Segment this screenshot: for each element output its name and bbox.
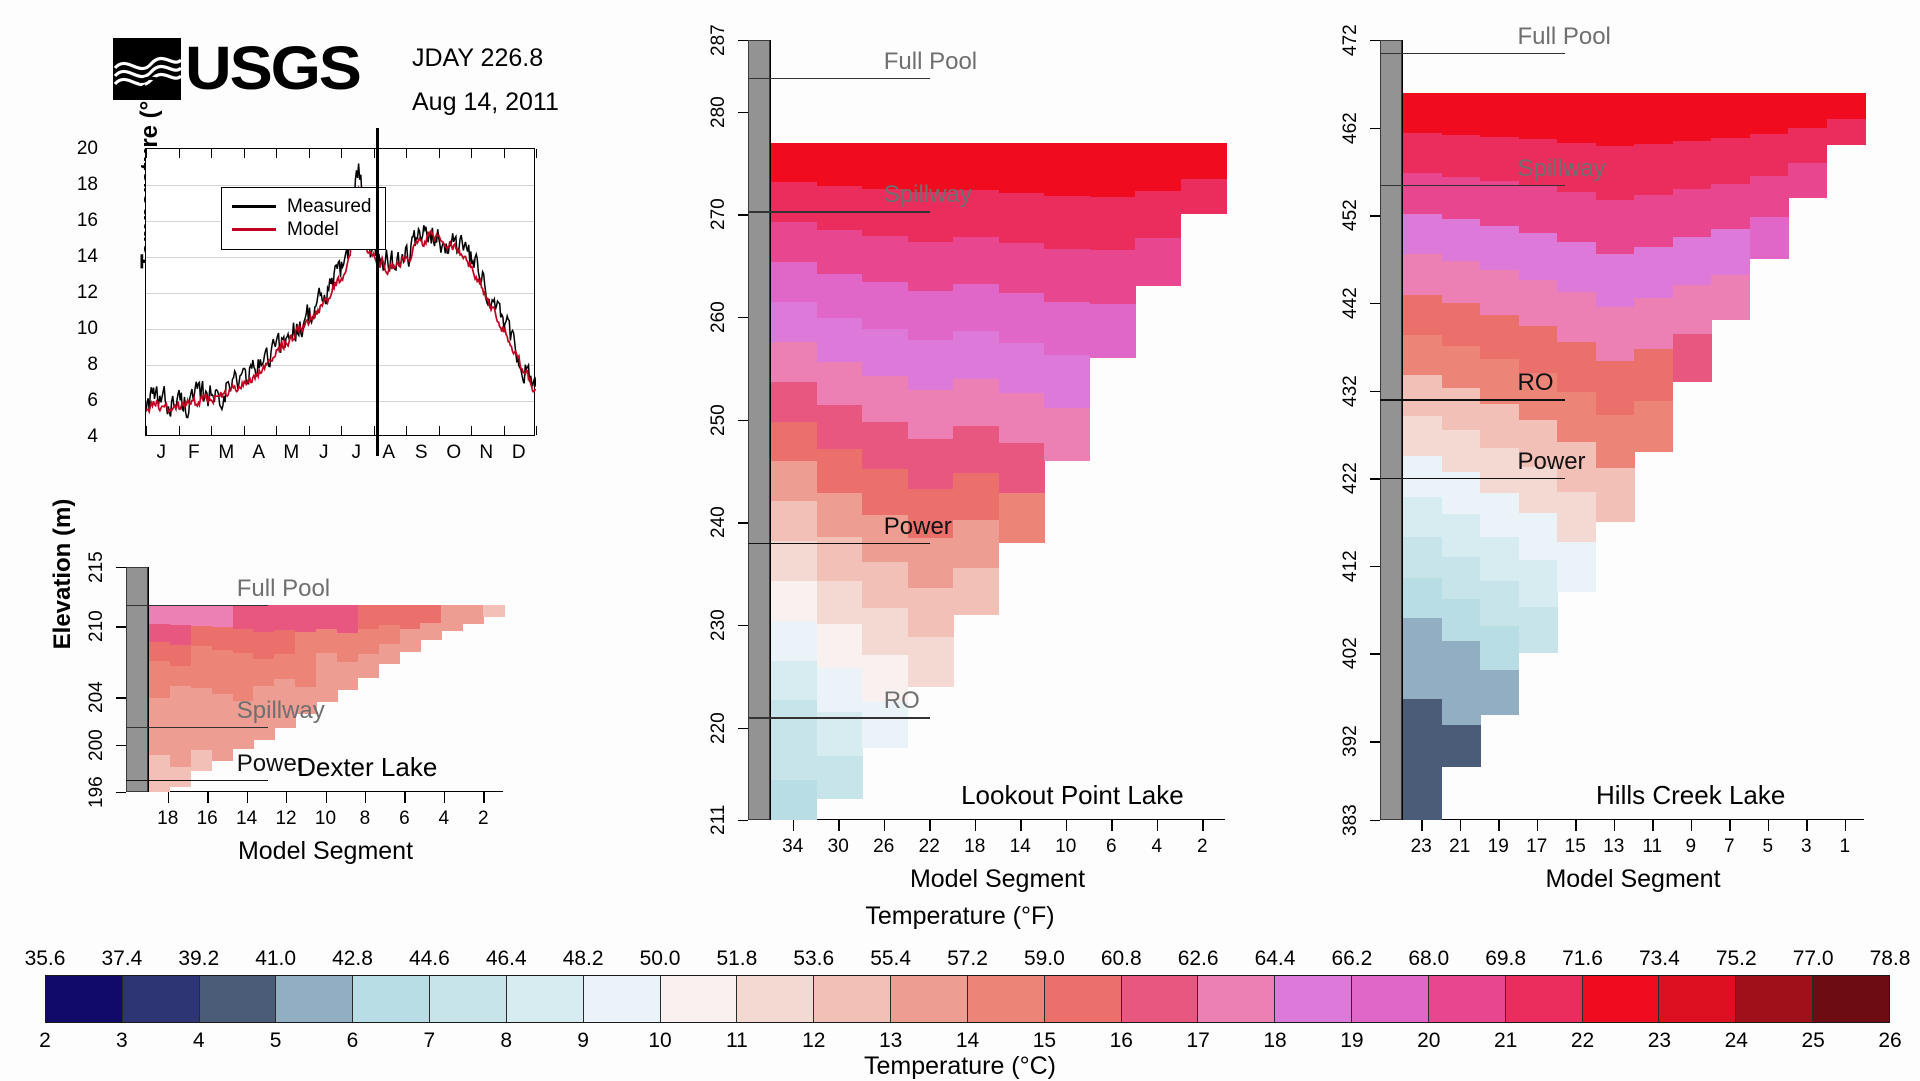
temperature-cell [170, 605, 191, 625]
temperature-cell [953, 379, 999, 426]
temperature-cell [817, 362, 863, 406]
colorbar-label-c: 22 [1561, 1029, 1605, 1053]
temperature-cell [1480, 493, 1519, 537]
colorbar-label-f: 51.8 [702, 947, 772, 971]
temperature-cell [358, 605, 379, 629]
temperature-cell [908, 340, 954, 389]
outlet-line-full-pool [126, 605, 268, 606]
colorbar-label-c: 25 [1791, 1029, 1835, 1053]
temperature-cell [1442, 219, 1481, 261]
reservoir-xtick [793, 820, 794, 831]
timeseries-month-label: N [473, 442, 499, 464]
reservoir-title: Hills Creek Lake [1596, 780, 1785, 811]
colorbar-label-f: 77.0 [1778, 947, 1848, 971]
temperature-cell [1673, 334, 1712, 382]
colorbar-label-f: 41.0 [241, 947, 311, 971]
colorbar-cell [46, 976, 123, 1022]
temperature-cell [170, 625, 191, 645]
colorbar-label-c: 24 [1714, 1029, 1758, 1053]
colorbar-label-f: 73.4 [1624, 947, 1694, 971]
temperature-cell [1480, 137, 1519, 181]
temperature-cell [862, 376, 908, 423]
temperature-cell [274, 630, 295, 655]
jday-value: JDAY 226.8 [412, 36, 559, 80]
reservoir-ytick-label: 220 [708, 698, 730, 758]
reservoir-ytick-label: 204 [86, 667, 108, 727]
temperature-cell [1044, 143, 1090, 196]
temperature-cell [771, 342, 817, 382]
reservoir-ytick [1370, 128, 1380, 129]
reservoir-xtick-label: 15 [1558, 836, 1592, 858]
temperature-cell [420, 623, 441, 641]
colorbar-cell [123, 976, 200, 1022]
temperature-cell [1634, 349, 1673, 400]
temperature-cell [1673, 93, 1712, 141]
temperature-cell [1090, 304, 1136, 358]
timeseries-ytick-label: 14 [58, 246, 98, 268]
temperature-cell [953, 426, 999, 473]
reservoir-xtick-label: 3 [1789, 836, 1823, 858]
colorbar-label-f: 60.8 [1086, 947, 1156, 971]
outlet-label-full-pool: Full Pool [237, 575, 330, 603]
reservoir-xtick [404, 792, 405, 803]
temperature-cell [149, 773, 170, 792]
dam-profile-bar [1380, 40, 1402, 820]
colorbar-cell [891, 976, 968, 1022]
timeseries-month-label: A [246, 442, 272, 464]
temperature-cell [1711, 93, 1750, 139]
temperature-cell [771, 143, 817, 183]
temperature-cell [1044, 355, 1090, 408]
colorbar-gradient [45, 975, 1890, 1023]
temperature-cell [1788, 93, 1827, 128]
temperature-cell [1557, 242, 1596, 292]
temperature-cell [149, 680, 170, 699]
colorbar-cell [1045, 976, 1122, 1022]
temperature-cell [1519, 560, 1558, 607]
temperature-cell [295, 632, 316, 659]
reservoir-ytick-label: 270 [708, 184, 730, 244]
colorbar-label-f: 48.2 [548, 947, 618, 971]
temperature-cell [191, 605, 212, 626]
colorbar-cell [430, 976, 507, 1022]
reservoir-ytick [738, 420, 748, 421]
temperature-cell [233, 725, 254, 749]
temperature-cell [170, 726, 191, 746]
timeseries-month-label: J [343, 442, 369, 464]
colorbar-cell [1275, 976, 1352, 1022]
temperature-cell [771, 541, 817, 581]
reservoir-xtick [1806, 820, 1807, 831]
colorbar-caption-f: Temperature (°F) [0, 902, 1920, 931]
reservoir-xtick [326, 792, 327, 803]
reservoir-xtick-label: 23 [1404, 836, 1438, 858]
reservoir-xtick [975, 820, 976, 831]
colorbar-label-f: 44.6 [394, 947, 464, 971]
colorbar-label-f: 78.8 [1855, 947, 1920, 971]
reservoir-xtick [1768, 820, 1769, 831]
reservoir-xtick-label: 10 [309, 808, 343, 830]
temperature-cell [212, 694, 233, 716]
temperature-cell [1557, 192, 1596, 242]
reservoir-ytick-label: 230 [708, 595, 730, 655]
colorbar-label-f: 46.4 [471, 947, 541, 971]
temperature-cell [379, 605, 400, 625]
reservoir-ytick [1370, 478, 1380, 479]
temperature-cell [1403, 93, 1442, 133]
timeseries-xtick [536, 426, 537, 435]
outlet-label-power: Power [237, 750, 305, 778]
reservoir-xtick [247, 792, 248, 803]
reservoir-xtick-label: 6 [387, 808, 421, 830]
temperature-cell [1634, 144, 1673, 195]
temperature-cell [1403, 739, 1442, 779]
temperature-cell [771, 302, 817, 342]
temperature-cell [1442, 261, 1481, 303]
temperature-cell [817, 230, 863, 274]
temperature-cell [149, 605, 170, 624]
reservoir-xtick-label: 12 [269, 808, 303, 830]
temperature-cell [170, 645, 191, 665]
temperature-cell [1519, 186, 1558, 233]
temperature-cell [1403, 375, 1442, 415]
temperature-cell [191, 688, 212, 709]
temperature-cell [999, 143, 1045, 193]
outlet-line-ro [748, 717, 930, 718]
temperature-cell [1442, 303, 1481, 345]
colorbar-label-c: 16 [1099, 1029, 1143, 1053]
reservoir-ytick [116, 697, 126, 698]
timeseries-ytick-label: 10 [58, 318, 98, 340]
colorbar-cell [814, 976, 891, 1022]
reservoir-ytick [116, 626, 126, 627]
reservoir-xtick [1498, 820, 1499, 831]
reservoir-xaxis-caption: Model Segment [1402, 865, 1864, 894]
legend-swatch [232, 205, 276, 208]
colorbar-cell [737, 976, 814, 1022]
temperature-cell [1557, 292, 1596, 342]
temperature-cell [441, 618, 462, 631]
colorbar-label-f: 64.4 [1240, 947, 1310, 971]
outlet-label-ro: RO [884, 687, 920, 715]
temperature-cell [1480, 537, 1519, 581]
reservoir-xtick [1111, 820, 1112, 831]
reservoir-ytick [738, 317, 748, 318]
colorbar-label-c: 2 [23, 1029, 67, 1053]
reservoir-ytick [116, 567, 126, 568]
outlet-label-power: Power [1518, 448, 1586, 476]
reservoir-ytick-label: 210 [86, 596, 108, 656]
date-value: Aug 14, 2011 [412, 80, 559, 124]
temperature-cell [862, 562, 908, 609]
temperature-cell [999, 193, 1045, 243]
reservoir-xtick [1202, 820, 1203, 831]
temperature-cell [441, 605, 462, 618]
temperature-cell [1403, 618, 1442, 658]
colorbar-cell [1583, 976, 1660, 1022]
colorbar-cell [584, 976, 661, 1022]
colorbar-label-f: 39.2 [164, 947, 234, 971]
temperature-cell [1557, 342, 1596, 392]
temperature-cell [253, 605, 274, 632]
temperature-cell [1519, 93, 1558, 140]
outlet-label-power: Power [884, 513, 952, 541]
reservoir-xtick-label: 1 [1828, 836, 1862, 858]
temperature-cell [999, 243, 1045, 293]
temperature-cell [1403, 497, 1442, 537]
outlet-label-spillway: Spillway [1518, 155, 1606, 183]
temperature-cell [170, 666, 191, 686]
temperature-cell [191, 646, 212, 667]
temperature-cell [400, 605, 421, 629]
temperature-cell [212, 739, 233, 761]
reservoir-ytick-label: 211 [708, 790, 730, 850]
temperature-cell [1403, 133, 1442, 173]
temperature-cell [1442, 514, 1481, 556]
reservoir-ytick [738, 728, 748, 729]
reservoir-xtick-label: 4 [427, 808, 461, 830]
temperature-cell [1480, 181, 1519, 225]
colorbar-label-c: 10 [638, 1029, 682, 1053]
reservoir-xtick-label: 19 [1481, 836, 1515, 858]
elevation-axis-label: Elevation (m) [49, 459, 77, 689]
temperature-cell [1090, 250, 1136, 304]
colorbar-label-f: 35.6 [10, 947, 80, 971]
outlet-line-full-pool [1380, 53, 1565, 54]
timeseries-ytick-label: 8 [58, 354, 98, 376]
colorbar-label-f: 53.6 [779, 947, 849, 971]
reservoir-xtick-label: 18 [958, 836, 992, 858]
timeseries-month-label: M [213, 442, 239, 464]
colorbar-label-c: 18 [1253, 1029, 1297, 1053]
outlet-line-power [748, 543, 930, 544]
reservoir-xtick [838, 820, 839, 831]
temperature-cell [1044, 302, 1090, 355]
reservoir-xtick [168, 792, 169, 803]
temperature-cell [999, 493, 1045, 543]
temperature-cell [1044, 408, 1090, 461]
outlet-label-ro: RO [1518, 369, 1554, 397]
colorbar-label-f: 42.8 [318, 947, 388, 971]
temperature-cell [1442, 430, 1481, 472]
colorbar-cell [968, 976, 1045, 1022]
temperature-cell [1557, 93, 1596, 143]
colorbar-label-f: 66.2 [1317, 947, 1387, 971]
temperature-cell [1403, 254, 1442, 294]
temperature-cell [1519, 233, 1558, 280]
colorbar-label-c: 12 [792, 1029, 836, 1053]
temperature-cell [1480, 270, 1519, 314]
temperature-cell [1181, 179, 1227, 215]
temperature-cell [316, 629, 337, 653]
colorbar-label-f: 59.0 [1009, 947, 1079, 971]
temperature-cell [1090, 197, 1136, 251]
colorbar-label-c: 13 [869, 1029, 913, 1053]
temperature-cell [1557, 492, 1596, 542]
temperature-cell [908, 538, 954, 587]
temperature-cell [1480, 670, 1519, 714]
temperature-cell [149, 698, 170, 717]
reservoir-xtick [1729, 820, 1730, 831]
outlet-line-power [126, 780, 268, 781]
temperature-cell [817, 405, 863, 449]
colorbar-cell [507, 976, 584, 1022]
temperature-cell [295, 605, 316, 632]
temperature-cell [1403, 780, 1442, 820]
reservoir-xtick-label: 22 [912, 836, 946, 858]
temperature-cell [1403, 456, 1442, 496]
timeseries-xtick [536, 149, 537, 158]
outlet-label-spillway: Spillway [884, 181, 972, 209]
temperature-cell [379, 625, 400, 645]
reservoir-xtick [1652, 820, 1653, 831]
reservoir-xtick-label: 17 [1520, 836, 1554, 858]
reservoir-xaxis-caption: Model Segment [770, 865, 1225, 894]
temperature-cell [1596, 200, 1635, 254]
reservoir-xtick-label: 14 [1003, 836, 1037, 858]
temperature-cell [1442, 683, 1481, 725]
temperature-cell [908, 637, 954, 686]
reservoir-xtick [929, 820, 930, 831]
temperature-cell [771, 501, 817, 541]
temperature-cell [1442, 557, 1481, 599]
timeseries-month-label: S [408, 442, 434, 464]
temperature-cell [1519, 513, 1558, 560]
outlet-line-power [1380, 478, 1565, 479]
reservoir-ytick [1370, 391, 1380, 392]
reservoir-ytick-label: 442 [1340, 273, 1362, 333]
timeseries-month-label: A [376, 442, 402, 464]
temperature-cell [1596, 361, 1635, 415]
legend-label: Model [287, 219, 339, 241]
reservoir-xtick [286, 792, 287, 803]
temperature-cell [358, 629, 379, 653]
temperature-cell [1788, 128, 1827, 163]
temperature-cell [1519, 607, 1558, 654]
colorbar-label-c: 5 [254, 1029, 298, 1053]
reservoir-xtick-label: 14 [230, 808, 264, 830]
temperature-cell [420, 605, 441, 623]
temperature-cell [253, 632, 274, 659]
temperature-cell [337, 605, 358, 633]
temperature-cell [1442, 388, 1481, 430]
temperature-cell [1673, 189, 1712, 237]
reservoir-xtick [1460, 820, 1461, 831]
temperature-cell [1403, 173, 1442, 213]
outlet-line-spillway [1380, 185, 1565, 186]
timeseries-ytick-label: 4 [58, 426, 98, 448]
colorbar-label-c: 6 [331, 1029, 375, 1053]
reservoir-xtick [1421, 820, 1422, 831]
reservoir-ytick-label: 240 [708, 492, 730, 552]
temperature-cell [212, 672, 233, 694]
temperature-cell [1403, 295, 1442, 335]
temperature-cell [1750, 93, 1789, 135]
colorbar-label-c: 8 [484, 1029, 528, 1053]
colorbar-label-c: 11 [715, 1029, 759, 1053]
outlet-label-spillway: Spillway [237, 697, 325, 725]
colorbar-label-c: 19 [1330, 1029, 1374, 1053]
outlet-line-spillway [748, 211, 930, 212]
temperature-cell [1711, 229, 1750, 275]
legend-item: Measured [232, 195, 372, 218]
temperature-cell [170, 686, 191, 706]
reservoir-ytick [738, 522, 748, 523]
temperature-cell [862, 422, 908, 469]
temperature-cell [1403, 214, 1442, 254]
temperature-cell [953, 331, 999, 378]
reservoir-xtick-label: 16 [190, 808, 224, 830]
temperature-cell [1442, 93, 1481, 135]
temperature-cell [170, 706, 191, 726]
timeseries-month-label: M [278, 442, 304, 464]
temperature-cell [817, 668, 863, 712]
temperature-cell [212, 605, 233, 627]
temperature-cell [337, 662, 358, 690]
reservoir-xtick [207, 792, 208, 803]
reservoir-ytick [738, 820, 748, 821]
colorbar-label-c: 7 [407, 1029, 451, 1053]
temperature-cell [233, 653, 254, 677]
temperature-cell [999, 293, 1045, 343]
temperature-cell [1750, 217, 1789, 259]
legend-swatch [232, 228, 276, 231]
temperature-cell [1596, 468, 1635, 522]
reservoir-xtick-label: 34 [776, 836, 810, 858]
outlet-line-spillway [126, 727, 268, 728]
reservoir-ytick-label: 287 [708, 10, 730, 70]
reservoir-panel-lookout-point-lake: 211220230240250260270280287Full PoolSpil… [770, 40, 1225, 930]
dam-profile-bar [126, 567, 148, 792]
reservoir-xtick-label: 10 [1049, 836, 1083, 858]
temperature-cell [953, 473, 999, 520]
temperature-cell [1750, 176, 1789, 218]
temperature-cell [337, 633, 358, 661]
temperature-cell [771, 780, 817, 820]
temperature-cell [999, 443, 1045, 493]
temperature-cell [817, 274, 863, 318]
temperature-cell [1788, 163, 1827, 198]
temperature-cell [212, 627, 233, 649]
reservoir-xtick [365, 792, 366, 803]
temperature-cell [149, 642, 170, 661]
temperature-cell [212, 650, 233, 672]
reservoir-ytick-label: 462 [1340, 98, 1362, 158]
timeseries-ytick-label: 18 [58, 174, 98, 196]
reservoir-ytick [1370, 566, 1380, 567]
temperature-cell [1596, 415, 1635, 469]
reservoir-xtick-label: 2 [466, 808, 500, 830]
reservoir-xtick [884, 820, 885, 831]
temperature-cell [862, 469, 908, 516]
colorbar-label-c: 17 [1176, 1029, 1220, 1053]
temperature-cell [1827, 93, 1866, 119]
reservoir-title: Lookout Point Lake [961, 780, 1184, 811]
reservoir-plot-area [1402, 40, 1864, 820]
temperature-cell [1673, 141, 1712, 189]
reservoir-ytick-label: 250 [708, 390, 730, 450]
temperature-cell [1634, 401, 1673, 452]
colorbar-cell [1429, 976, 1506, 1022]
temperature-cell [1827, 119, 1866, 145]
temperature-cell [295, 659, 316, 686]
temperature-cell [149, 755, 170, 774]
colorbar-cell [1122, 976, 1199, 1022]
reservoir-ytick-label: 472 [1340, 10, 1362, 70]
temperature-cell [1480, 359, 1519, 403]
reservoir-xtick-label: 26 [867, 836, 901, 858]
outlet-line-full-pool [748, 78, 930, 79]
